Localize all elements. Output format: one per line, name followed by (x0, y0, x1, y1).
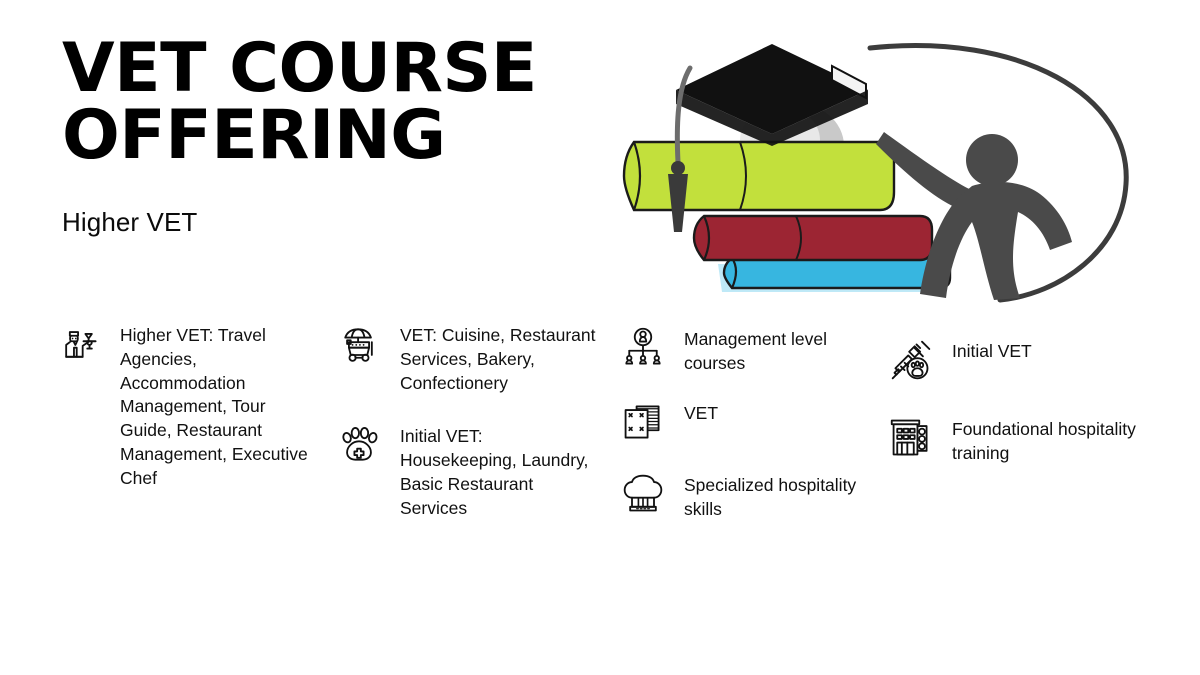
waiter-icon (52, 322, 106, 372)
syringe-paw-icon (884, 338, 938, 388)
feature-item: Specialized hospitality skills (616, 472, 884, 522)
org-chart-icon (616, 326, 670, 376)
chef-hat-icon (616, 472, 670, 522)
cushion-icon (616, 400, 670, 450)
book-green (624, 142, 894, 210)
feature-label: VET (684, 400, 718, 426)
feature-item: Management level courses (616, 326, 884, 376)
hero-illustration (620, 26, 1136, 304)
feature-column-4: Initial VET Foundational hospitality tra… (884, 322, 1174, 488)
food-cart-icon (332, 322, 386, 372)
feature-label: Foundational hospitality training (952, 416, 1174, 466)
feature-column-3: Management level courses VET (616, 322, 884, 544)
feature-label: Management level courses (684, 326, 884, 376)
feature-item: VET (616, 400, 884, 450)
paw-cross-icon (332, 423, 386, 473)
feature-label: Initial VET: Housekeeping, Laundry, Basi… (400, 423, 600, 520)
feature-label: VET: Cuisine, Restaurant Services, Baker… (400, 322, 600, 395)
feature-item: VET: Cuisine, Restaurant Services, Baker… (332, 322, 600, 395)
feature-item: Initial VET: Housekeeping, Laundry, Basi… (332, 423, 600, 520)
feature-columns: Higher VET: Travel Agencies, Accommodati… (0, 322, 1200, 662)
feature-label: Initial VET (952, 338, 1032, 364)
page-title: VET COURSE OFFERING (62, 36, 602, 169)
feature-column-2: VET: Cuisine, Restaurant Services, Baker… (332, 322, 600, 543)
feature-item: Initial VET (884, 338, 1174, 388)
title-block: VET COURSE OFFERING Higher VET (62, 36, 602, 238)
feature-label: Specialized hospitality skills (684, 472, 884, 522)
feature-column-1: Higher VET: Travel Agencies, Accommodati… (52, 322, 320, 513)
page-subtitle: Higher VET (62, 169, 602, 238)
book-blue (718, 258, 950, 292)
feature-label: Higher VET: Travel Agencies, Accommodati… (120, 322, 320, 491)
feature-item: Higher VET: Travel Agencies, Accommodati… (52, 322, 320, 491)
hotel-building-icon (884, 416, 938, 466)
feature-item: Foundational hospitality training (884, 416, 1174, 466)
book-red (694, 216, 932, 260)
